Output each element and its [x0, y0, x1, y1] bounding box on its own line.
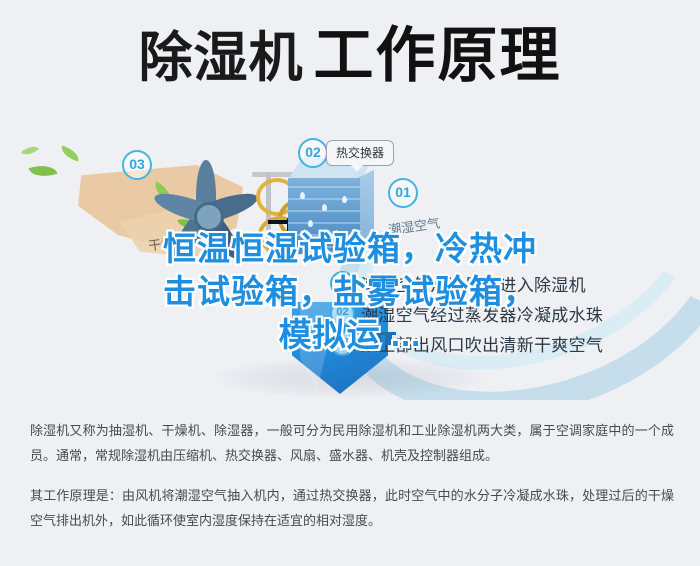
body-paragraph-1: 除湿机又称为抽湿机、干燥机、除湿器，一般可分为民用除湿机和工业除湿机两大类，属于… — [30, 418, 674, 469]
infographic-page: 除湿机工作原理 — [0, 0, 700, 566]
leaf-icon — [59, 145, 81, 161]
leaf-icon — [21, 142, 39, 159]
badge-03: 03 — [122, 150, 152, 180]
leaf-icon — [28, 160, 57, 181]
page-title: 除湿机工作原理 — [0, 26, 700, 86]
overlay-line-1: 恒温恒湿试验箱，冷热冲 — [0, 228, 700, 271]
badge-02: 02 — [298, 138, 328, 168]
heat-exchanger-callout: 热交换器 — [326, 140, 394, 166]
body-paragraph-2: 其工作原理是：由风机将潮湿空气抽入机内，通过热交换器，此时空气中的水分子冷凝成水… — [30, 483, 674, 534]
title-secondary: 工作原理 — [314, 22, 562, 89]
overlay-line-2: 击试验箱，盐雾试验箱， — [0, 271, 700, 314]
badge-01: 01 — [388, 178, 418, 208]
overlay-headline: 恒温恒湿试验箱，冷热冲 击试验箱，盐雾试验箱， 模拟运 ... — [0, 228, 700, 357]
overlay-line-3: 模拟运 ... — [0, 314, 700, 357]
title-primary: 除湿机 — [139, 28, 304, 88]
body-copy: 除湿机又称为抽湿机、干燥机、除湿器，一般可分为民用除湿机和工业除湿机两大类，属于… — [30, 418, 674, 533]
